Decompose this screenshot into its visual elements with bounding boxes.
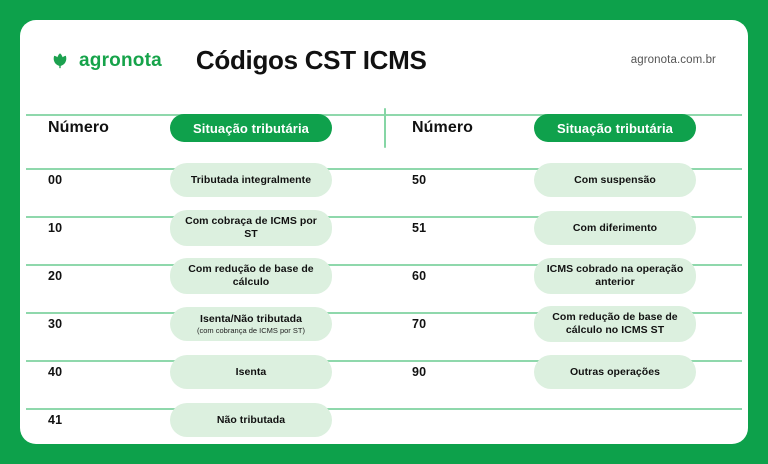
cst-number: 60: [412, 269, 534, 283]
column-header-situacao-label: Situação tributária: [193, 121, 309, 136]
code-tables: Número Situação tributária 00 Tributada …: [20, 100, 748, 444]
cst-situation-label: Com cobraça de ICMS por ST: [178, 215, 324, 240]
cst-number: 20: [48, 269, 170, 283]
cst-number: 30: [48, 317, 170, 331]
cst-situation-cell: Com redução de base de cálculo no ICMS S…: [534, 306, 738, 341]
cst-situation-cell: Tributada integralmente: [170, 163, 374, 197]
cst-number: 70: [412, 317, 534, 331]
leaf-icon: [48, 48, 72, 72]
brand-name: agronota: [79, 51, 162, 70]
page-title: Códigos CST ICMS: [196, 45, 427, 76]
cst-situation-pill: Com redução de base de cálculo: [170, 258, 332, 293]
cst-situation-pill: Com suspensão: [534, 163, 696, 197]
cst-situation-label: Tributada integralmente: [191, 174, 311, 187]
cst-situation-label: Isenta/Não tributada: [200, 313, 302, 326]
column-header-situacao-cell: Situação tributária: [170, 114, 374, 142]
cst-situation-sublabel: (com cobrança de ICMS por ST): [197, 326, 305, 335]
column-header-situacao-label: Situação tributária: [557, 121, 673, 136]
cst-situation-pill: Com cobraça de ICMS por ST: [170, 210, 332, 245]
cst-situation-cell: ICMS cobrado na operação anterior: [534, 258, 738, 293]
cst-situation-label: Com diferimento: [573, 222, 657, 235]
brand-logo: agronota: [48, 48, 162, 72]
table-row[interactable]: 20 Com redução de base de cálculo: [20, 252, 384, 300]
cst-situation-label: Isenta: [236, 366, 267, 379]
cst-situation-cell: Isenta/Não tributada (com cobrança de IC…: [170, 307, 374, 341]
cst-number: 40: [48, 365, 170, 379]
table-row[interactable]: 10 Com cobraça de ICMS por ST: [20, 204, 384, 252]
cst-number: 50: [412, 173, 534, 187]
table-row[interactable]: 00 Tributada integralmente: [20, 156, 384, 204]
column-header-situacao-cell: Situação tributária: [534, 114, 738, 142]
cst-situation-cell: Não tributada: [170, 403, 374, 437]
cst-situation-cell: Outras operações: [534, 355, 738, 389]
table-header-row-left: Número Situação tributária: [20, 100, 384, 156]
cst-situation-cell: Com diferimento: [534, 211, 738, 245]
table-row[interactable]: 40 Isenta: [20, 348, 384, 396]
cst-number: 90: [412, 365, 534, 379]
cst-situation-pill: Outras operações: [534, 355, 696, 389]
table-row[interactable]: 30 Isenta/Não tributada (com cobrança de…: [20, 300, 384, 348]
cst-situation-label: Com redução de base de cálculo: [178, 263, 324, 288]
table-row[interactable]: 50 Com suspensão: [384, 156, 748, 204]
cst-situation-cell: Com cobraça de ICMS por ST: [170, 210, 374, 245]
cst-situation-label: Com suspensão: [574, 174, 656, 187]
card-header: agronota Códigos CST ICMS agronota.com.b…: [20, 20, 748, 100]
cst-situation-label: ICMS cobrado na operação anterior: [542, 263, 688, 288]
column-vertical-divider: [384, 108, 386, 148]
cst-situation-pill: Com diferimento: [534, 211, 696, 245]
cst-number: 41: [48, 413, 170, 427]
table-header-row-right: Número Situação tributária: [384, 100, 748, 156]
cst-situation-cell: Com suspensão: [534, 163, 738, 197]
cst-situation-cell: Isenta: [170, 355, 374, 389]
cst-situation-label: Com redução de base de cálculo no ICMS S…: [542, 311, 688, 336]
table-row[interactable]: 51 Com diferimento: [384, 204, 748, 252]
cst-situation-pill: Com redução de base de cálculo no ICMS S…: [534, 306, 696, 341]
site-url: agronota.com.br: [631, 54, 724, 66]
poster-frame: agronota Códigos CST ICMS agronota.com.b…: [0, 0, 768, 464]
cst-situation-pill: Isenta: [170, 355, 332, 389]
cst-situation-pill: ICMS cobrado na operação anterior: [534, 258, 696, 293]
table-row[interactable]: 41 Não tributada: [20, 396, 384, 444]
table-row[interactable]: 90 Outras operações: [384, 348, 748, 396]
cst-number: 00: [48, 173, 170, 187]
cst-situation-pill: Isenta/Não tributada (com cobrança de IC…: [170, 307, 332, 341]
column-header-situacao-pill: Situação tributária: [170, 114, 332, 142]
cst-situation-label: Não tributada: [217, 414, 285, 427]
table-column-left: Número Situação tributária 00 Tributada …: [20, 100, 384, 444]
table-column-right: Número Situação tributária 50 Com suspen…: [384, 100, 748, 444]
column-header-numero: Número: [48, 119, 170, 137]
cst-number: 10: [48, 221, 170, 235]
column-header-numero: Número: [412, 119, 534, 137]
cst-situation-cell: Com redução de base de cálculo: [170, 258, 374, 293]
cst-situation-pill: Não tributada: [170, 403, 332, 437]
cst-situation-label: Outras operações: [570, 366, 660, 379]
table-row[interactable]: 60 ICMS cobrado na operação anterior: [384, 252, 748, 300]
cst-situation-pill: Tributada integralmente: [170, 163, 332, 197]
column-header-situacao-pill: Situação tributária: [534, 114, 696, 142]
content-card: agronota Códigos CST ICMS agronota.com.b…: [20, 20, 748, 444]
table-row[interactable]: 70 Com redução de base de cálculo no ICM…: [384, 300, 748, 348]
cst-number: 51: [412, 221, 534, 235]
